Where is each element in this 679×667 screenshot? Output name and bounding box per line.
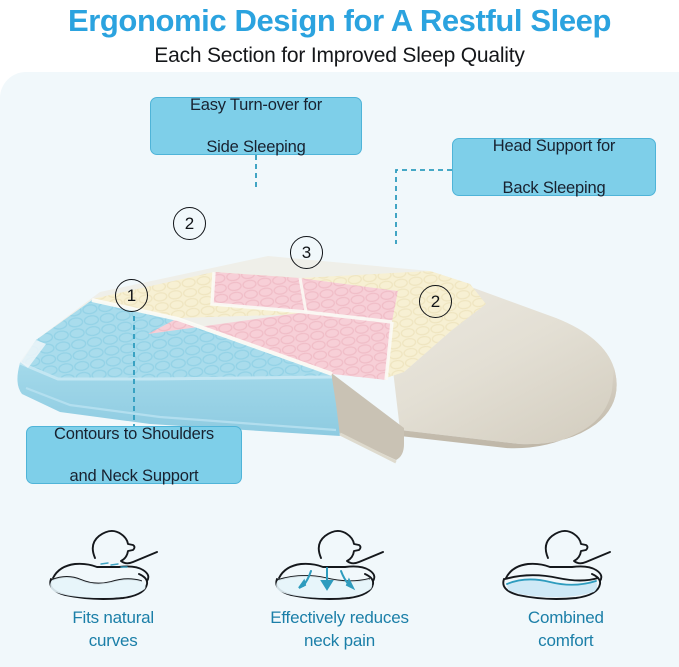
head-on-contour-pillow-icon xyxy=(23,518,203,600)
callout-line-1: Head Support for xyxy=(485,136,623,157)
callout-contours-shoulders[interactable]: Contours to Shoulders and Neck Support xyxy=(26,426,242,484)
callout-easy-turnover[interactable]: Easy Turn-over for Side Sleeping xyxy=(150,97,362,155)
head-on-layered-pillow-icon xyxy=(476,518,656,600)
feature-caption-line-1: Combined xyxy=(528,608,604,627)
callout-line-1: Contours to Shoulders xyxy=(46,424,222,445)
feature-combined-comfort: Combined comfort xyxy=(453,518,679,667)
feature-caption-line-1: Effectively reduces xyxy=(270,608,409,627)
callout-line-1: Easy Turn-over for xyxy=(182,95,330,116)
header: Ergonomic Design for A Restful Sleep Eac… xyxy=(0,0,679,69)
pillow-top-surface xyxy=(20,256,486,380)
zone-marker-1: 1 xyxy=(115,279,148,312)
infographic-root: Ergonomic Design for A Restful Sleep Eac… xyxy=(0,0,679,667)
callout-head-support[interactable]: Head Support for Back Sleeping xyxy=(452,138,656,196)
callout-line-2: Back Sleeping xyxy=(485,178,623,199)
feature-caption-line-1: Fits natural xyxy=(72,608,154,627)
page-title: Ergonomic Design for A Restful Sleep xyxy=(0,2,679,40)
feature-row: Fits natural curves xyxy=(0,518,679,667)
head-with-pressure-arrows-icon xyxy=(249,518,429,600)
feature-reduces-neck-pain: Effectively reduces neck pain xyxy=(226,518,452,667)
feature-caption-line-2: neck pain xyxy=(304,631,375,650)
callout-line-2: and Neck Support xyxy=(46,466,222,487)
zone-marker-2-left: 2 xyxy=(173,207,206,240)
feature-caption-line-2: curves xyxy=(89,631,138,650)
feature-caption: Fits natural curves xyxy=(72,606,154,652)
callout-head-support-text: Head Support for Back Sleeping xyxy=(477,136,631,199)
zone-marker-2-right: 2 xyxy=(419,285,452,318)
callout-easy-turnover-text: Easy Turn-over for Side Sleeping xyxy=(174,95,338,158)
zone-marker-3: 3 xyxy=(290,236,323,269)
callout-line-2: Side Sleeping xyxy=(182,137,330,158)
feature-caption: Combined comfort xyxy=(528,606,604,652)
feature-caption: Effectively reduces neck pain xyxy=(270,606,409,652)
callout-contours-text: Contours to Shoulders and Neck Support xyxy=(38,424,230,487)
feature-caption-line-2: comfort xyxy=(538,631,593,650)
connector-head-support xyxy=(396,170,452,244)
page-subtitle: Each Section for Improved Sleep Quality xyxy=(0,43,679,69)
feature-fits-natural-curves: Fits natural curves xyxy=(0,518,226,667)
